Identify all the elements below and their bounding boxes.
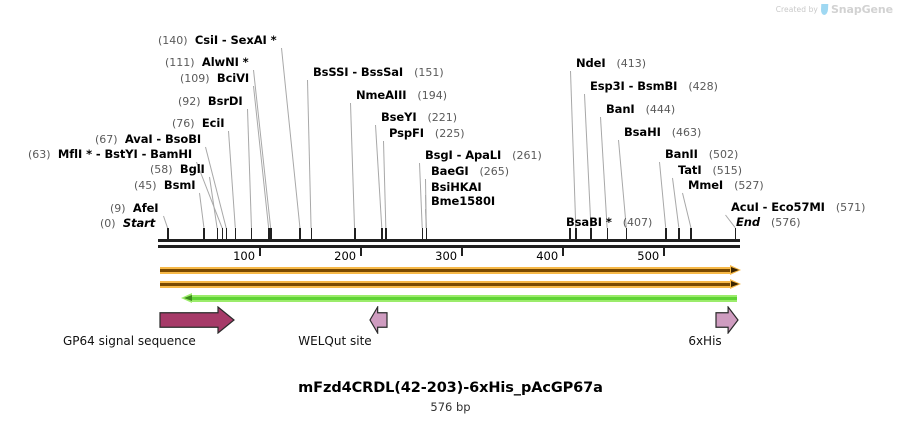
enzyme-label-ecii[interactable]: (76) EciI — [172, 117, 224, 130]
enzyme-label-acui-eco57mi[interactable]: AcuI - Eco57MI (571) — [731, 201, 865, 214]
restriction-site-tick — [311, 228, 313, 239]
enzyme-label-mmei[interactable]: MmeI (527) — [688, 179, 764, 192]
enzyme-name: MmeI — [688, 178, 723, 192]
enzyme-label-afei[interactable]: (9) AfeI — [110, 202, 159, 215]
enzyme-position: (413) — [617, 57, 647, 70]
feature-label-gp64: GP64 signal sequence — [63, 334, 183, 348]
enzyme-name: AlwNI * — [202, 55, 249, 69]
enzyme-position: (463) — [672, 126, 702, 139]
enzyme-position: (111) — [165, 56, 195, 69]
enzyme-name: Esp3I - BsmBI — [590, 79, 677, 93]
ruler-tick — [461, 248, 463, 256]
enzyme-position: (221) — [428, 111, 458, 124]
enzyme-name: BseYI — [381, 110, 417, 124]
sequence-bar-lower — [158, 245, 740, 248]
enzyme-position: (225) — [435, 127, 465, 140]
enzyme-name: BciVI — [217, 71, 249, 85]
enzyme-label-bsabi[interactable]: BsaBI * (407) — [566, 216, 652, 229]
restriction-site-tick — [385, 228, 387, 239]
restriction-site-tick — [381, 228, 383, 239]
enzyme-label-bsihkai[interactable]: BsiHKAI — [431, 181, 482, 194]
leader-line — [350, 103, 355, 228]
restriction-site-tick — [626, 228, 628, 239]
enzyme-label-bsgi-apali[interactable]: BsgI - ApaLI (261) — [425, 149, 542, 162]
ruler-tick — [259, 248, 261, 256]
leader-line — [659, 162, 666, 228]
restriction-site-tick — [299, 228, 301, 239]
restriction-site-tick — [607, 228, 609, 239]
enzyme-name: AcuI - Eco57MI — [731, 200, 825, 214]
leader-line — [281, 48, 300, 228]
enzyme-label-bseyi[interactable]: BseYI (221) — [381, 111, 457, 124]
ruler-tick-label: 400 — [498, 249, 558, 263]
feature-label-6xhis: 6xHis — [645, 334, 765, 348]
feature-welqut[interactable] — [369, 306, 388, 334]
restriction-site-tick — [426, 228, 428, 239]
enzyme-position: (261) — [512, 149, 542, 162]
leader-line — [682, 193, 691, 228]
restriction-site-tick — [203, 228, 205, 239]
enzyme-name: PspFI — [389, 126, 424, 140]
enzyme-label-mfli-bstyi-bamhi[interactable]: (63) MflI * - BstYI - BamHI — [28, 148, 192, 161]
enzyme-position: (571) — [836, 201, 866, 214]
orf-arrowhead-core — [731, 281, 739, 287]
restriction-site-tick — [270, 228, 272, 239]
enzyme-position: (67) — [95, 133, 118, 146]
enzyme-label-alwni[interactable]: (111) AlwNI * — [165, 56, 249, 69]
leader-line — [247, 109, 252, 228]
enzyme-position: (109) — [180, 72, 210, 85]
ruler-tick — [663, 248, 665, 256]
enzyme-name: AfeI — [133, 201, 159, 215]
orf-body — [160, 267, 731, 274]
orf-arrow-orf-1[interactable] — [160, 267, 741, 274]
enzyme-label-banii[interactable]: BanII (502) — [665, 148, 738, 161]
orf-arrowhead — [730, 265, 741, 275]
leader-line — [570, 71, 576, 228]
watermark-created-by-label: Created by — [776, 5, 818, 14]
enzyme-position: (76) — [172, 117, 195, 130]
enzyme-name: EciI — [202, 116, 225, 130]
feature-label-welqut: WELQut site — [275, 334, 395, 348]
enzyme-name: BsrDI — [208, 94, 243, 108]
orf-arrowhead-core — [731, 267, 739, 273]
enzyme-name: AvaI - BsoBI — [125, 132, 201, 146]
enzyme-name: NmeAIII — [356, 88, 406, 102]
restriction-site-tick — [251, 228, 253, 239]
enzyme-name: BaeGI — [431, 164, 469, 178]
enzyme-label-bsmi[interactable]: (45) BsmI — [134, 179, 195, 192]
enzyme-name: CsiI - SexAI * — [195, 33, 277, 47]
leader-line — [375, 125, 382, 228]
enzyme-position: (194) — [417, 89, 447, 102]
restriction-site-tick — [569, 228, 571, 239]
restriction-site-tick — [678, 228, 680, 239]
construct-title: mFzd4CRDL(42-203)-6xHis_pAcGP67a — [0, 380, 901, 396]
enzyme-label-avai-bsobi[interactable]: (67) AvaI - BsoBI — [95, 133, 201, 146]
leader-line — [600, 117, 608, 228]
enzyme-position: (151) — [414, 66, 444, 79]
enzyme-position: (515) — [712, 164, 742, 177]
orf-body — [191, 295, 737, 302]
enzyme-name: BsgI - ApaLI — [425, 148, 501, 162]
leader-line — [419, 163, 423, 228]
orf-body — [160, 281, 731, 288]
enzyme-name: BglI — [180, 162, 205, 176]
feature-gp64[interactable] — [159, 306, 235, 334]
restriction-site-tick — [590, 228, 592, 239]
enzyme-position: (140) — [158, 34, 188, 47]
enzyme-position: (92) — [178, 95, 201, 108]
enzyme-position: (428) — [688, 80, 718, 93]
ruler-tick-label: 100 — [195, 249, 255, 263]
enzyme-label-bcivi[interactable]: (109) BciVI — [180, 72, 249, 85]
leader-line — [307, 80, 312, 228]
feature-6xhis[interactable] — [715, 306, 739, 334]
leader-line — [383, 141, 386, 228]
enzyme-label-nmeaiii[interactable]: NmeAIII (194) — [356, 89, 447, 102]
enzyme-name: Bme1580I — [431, 194, 495, 208]
restriction-site-tick — [217, 228, 219, 239]
enzyme-label-bme1580i[interactable]: Bme1580I — [431, 195, 495, 208]
enzyme-label-pspfi[interactable]: PspFI (225) — [389, 127, 465, 140]
enzyme-name: BsiHKAI — [431, 180, 482, 194]
enzyme-label-basssi-bsssai[interactable]: BsSSI - BssSaI (151) — [313, 66, 444, 79]
enzyme-name: BanII — [665, 147, 698, 161]
restriction-site-tick — [354, 228, 356, 239]
ruler-tick-label: 200 — [296, 249, 356, 263]
enzyme-label-bani[interactable]: BanI (444) — [606, 103, 675, 116]
enzyme-name: BsaHI — [624, 125, 661, 139]
restriction-site-tick — [735, 228, 737, 239]
enzyme-name: MflI * - BstYI - BamHI — [58, 147, 192, 161]
orf-arrowhead-core — [184, 295, 192, 301]
restriction-site-tick — [167, 228, 169, 239]
enzyme-position: (527) — [734, 179, 764, 192]
sequence-bar-upper — [158, 239, 740, 242]
enzyme-label-tati[interactable]: TatI (515) — [678, 164, 742, 177]
enzyme-label-ndei[interactable]: NdeI (413) — [576, 57, 646, 70]
orf-arrowhead — [730, 279, 741, 289]
enzyme-name: BsmI — [164, 178, 195, 192]
orf-arrow-orf-2[interactable] — [160, 281, 741, 288]
restriction-site-tick — [226, 228, 228, 239]
enzyme-label-bgli[interactable]: (58) BglI — [150, 163, 205, 176]
enzyme-name: NdeI — [576, 56, 606, 70]
restriction-site-tick — [665, 228, 667, 239]
enzyme-name: TatI — [678, 163, 702, 177]
restriction-site-tick — [575, 228, 577, 239]
ruler-tick — [562, 248, 564, 256]
enzyme-name: BsSSI - BssSaI — [313, 65, 403, 79]
leader-line — [672, 178, 679, 228]
orf-arrowhead — [181, 293, 192, 303]
watermark-brand-label: SnapGene — [831, 3, 893, 16]
leader-line — [228, 131, 236, 228]
enzyme-label-start[interactable]: (0) Start — [100, 217, 155, 230]
enzyme-position: (45) — [134, 179, 157, 192]
snapgene-logo-icon — [821, 4, 829, 15]
enzyme-label-baegi[interactable]: BaeGI (265) — [431, 165, 509, 178]
leader-line — [209, 177, 218, 228]
ruler-tick-label: 300 — [397, 249, 457, 263]
snapgene-watermark: Created by SnapGene — [776, 3, 893, 16]
enzyme-position: (9) — [110, 202, 126, 215]
enzyme-position: (63) — [28, 148, 51, 161]
enzyme-position: (0) — [100, 217, 116, 230]
enzyme-name: BsaBI * — [566, 215, 612, 229]
orf-arrow-orf-3[interactable] — [181, 295, 737, 302]
enzyme-position: (265) — [480, 165, 510, 178]
restriction-site-tick — [690, 228, 692, 239]
restriction-site-tick — [222, 228, 224, 239]
enzyme-name: Start — [123, 216, 155, 230]
enzyme-position: (576) — [771, 216, 801, 229]
ruler-tick — [360, 248, 362, 256]
restriction-site-tick — [422, 228, 424, 239]
enzyme-name: End — [736, 215, 760, 229]
leader-line — [253, 70, 271, 228]
snapgene-sequence-map: Created by SnapGene (140) CsiI - SexAI *… — [0, 0, 901, 422]
enzyme-position: (502) — [709, 148, 739, 161]
enzyme-label-bsahi[interactable]: BsaHI (463) — [624, 126, 701, 139]
enzyme-label-end[interactable]: End (576) — [736, 216, 801, 229]
leader-line — [725, 215, 736, 229]
restriction-site-tick — [235, 228, 237, 239]
ruler-tick-label: 500 — [599, 249, 659, 263]
enzyme-label-csii-sexai[interactable]: (140) CsiI - SexAI * — [158, 34, 277, 47]
enzyme-name: BanI — [606, 102, 635, 116]
enzyme-label-esp3i-bsmbi[interactable]: Esp3I - BsmBI (428) — [590, 80, 718, 93]
construct-length-label: 576 bp — [0, 400, 901, 414]
leader-line — [584, 94, 591, 228]
leader-line — [163, 216, 168, 228]
leader-line — [253, 86, 269, 228]
enzyme-position: (444) — [646, 103, 676, 116]
enzyme-position: (58) — [150, 163, 173, 176]
enzyme-label-bsrdi[interactable]: (92) BsrDI — [178, 95, 243, 108]
leader-line — [199, 193, 204, 228]
